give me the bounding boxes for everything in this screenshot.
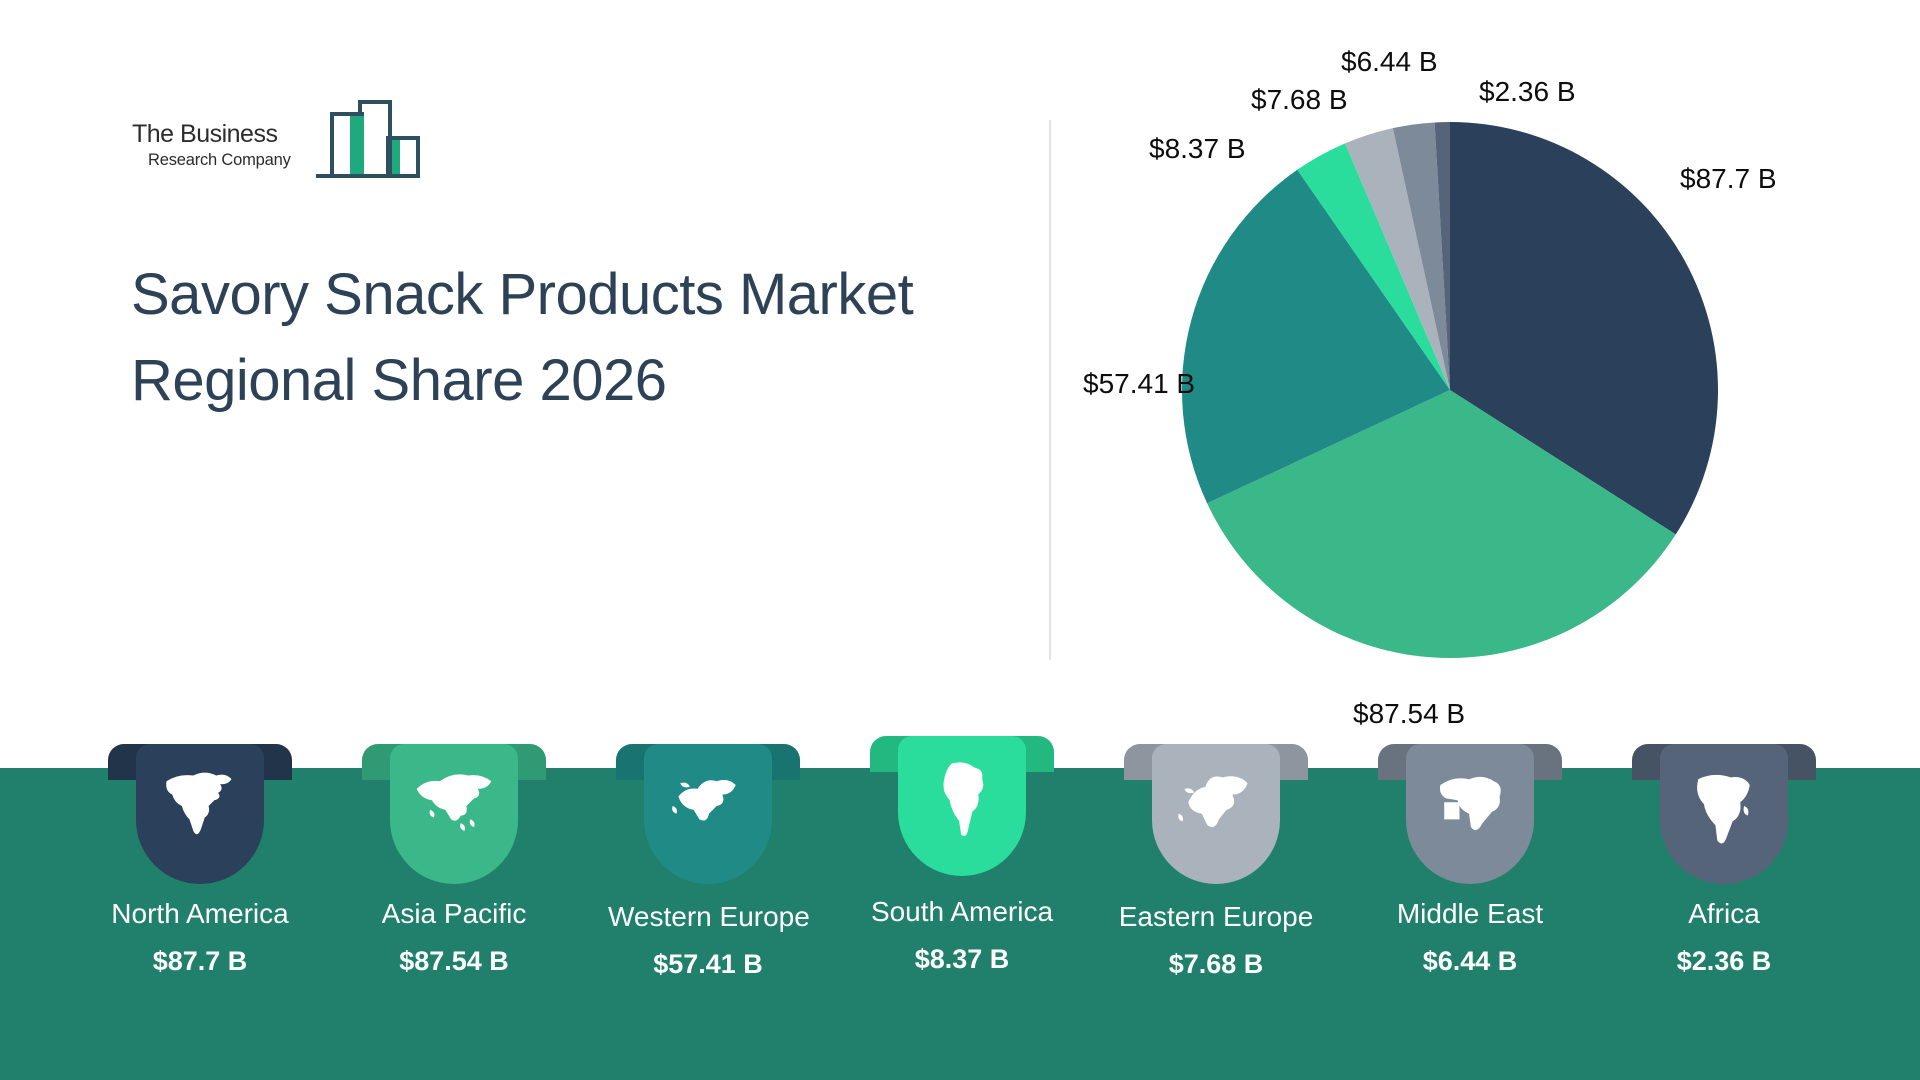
region-card-value: $87.7 B	[100, 948, 300, 975]
region-card-name: Eastern Europe	[1116, 903, 1316, 931]
region-card-name: North America	[100, 900, 300, 928]
region-badge	[362, 744, 546, 884]
region-card-value: $8.37 B	[862, 946, 1062, 973]
region-card-name: Asia Pacific	[354, 900, 554, 928]
region-card[interactable]: Eastern Europe$7.68 B	[1116, 744, 1316, 884]
region-card[interactable]: Asia Pacific$87.54 B	[354, 744, 554, 884]
region-badge	[870, 736, 1054, 876]
region-card-name: Africa	[1624, 900, 1824, 928]
region-card-value: $2.36 B	[1624, 948, 1824, 975]
western-europe-map-icon	[665, 764, 751, 850]
region-badge	[616, 744, 800, 884]
middle-east-map-icon	[1427, 764, 1513, 850]
eastern-europe-map-icon	[1173, 764, 1259, 850]
region-card-value: $57.41 B	[608, 951, 808, 978]
north-america-map-icon	[157, 764, 243, 850]
badge-body	[1406, 744, 1534, 884]
region-card[interactable]: Western Europe$57.41 B	[608, 744, 808, 884]
region-card-name: Middle East	[1370, 900, 1570, 928]
region-card[interactable]: North America$87.7 B	[100, 744, 300, 884]
badge-body	[390, 744, 518, 884]
badge-body	[136, 744, 264, 884]
badge-body	[898, 736, 1026, 876]
region-card-name: Western Europe	[608, 903, 808, 931]
asia-pacific-map-icon	[411, 764, 497, 850]
region-badge	[1124, 744, 1308, 884]
region-card[interactable]: South America$8.37 B	[862, 736, 1062, 876]
region-card-value: $7.68 B	[1116, 951, 1316, 978]
africa-map-icon	[1681, 764, 1767, 850]
region-card[interactable]: Africa$2.36 B	[1624, 744, 1824, 884]
region-card-name: South America	[862, 898, 1062, 926]
badge-body	[644, 744, 772, 884]
region-card-list: North America$87.7 BAsia Pacific$87.54 B…	[0, 0, 1920, 1080]
region-badge	[1378, 744, 1562, 884]
region-card-value: $87.54 B	[354, 948, 554, 975]
region-badge	[1632, 744, 1816, 884]
badge-body	[1660, 744, 1788, 884]
region-card[interactable]: Middle East$6.44 B	[1370, 744, 1570, 884]
region-badge	[108, 744, 292, 884]
south-america-map-icon	[919, 756, 1005, 842]
badge-body	[1152, 744, 1280, 884]
region-card-value: $6.44 B	[1370, 948, 1570, 975]
